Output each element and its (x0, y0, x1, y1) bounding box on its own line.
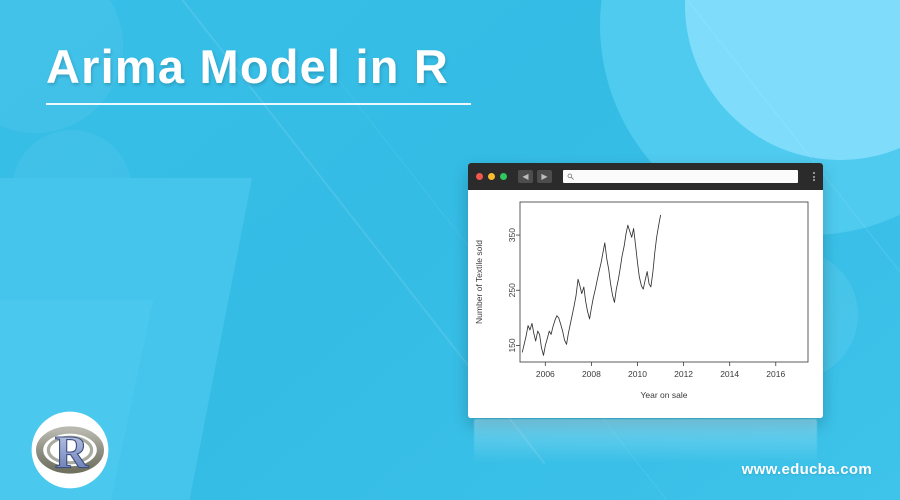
browser-window: ◀ ▶ 150250350200620082010201 (468, 163, 823, 418)
title-underline (46, 103, 471, 105)
browser-window-reflection (474, 419, 817, 463)
site-url: www.educba.com (742, 461, 872, 478)
svg-text:350: 350 (507, 228, 517, 242)
search-icon (567, 173, 574, 180)
address-bar[interactable] (563, 170, 798, 183)
svg-text:2012: 2012 (674, 369, 693, 379)
kebab-menu-icon[interactable] (809, 172, 818, 181)
r-timeseries-plot: 150250350200620082010201220142016Year on… (468, 190, 823, 418)
svg-text:Year on sale: Year on sale (641, 390, 688, 400)
close-dot[interactable] (476, 173, 483, 180)
page-title: Arima Model in R (46, 40, 606, 94)
svg-text:150: 150 (507, 338, 517, 352)
navigation-buttons: ◀ ▶ (518, 170, 552, 183)
maximize-dot[interactable] (500, 173, 507, 180)
title-block: Arima Model in R (46, 40, 606, 105)
svg-text:2008: 2008 (582, 369, 601, 379)
minimize-dot[interactable] (488, 173, 495, 180)
browser-titlebar: ◀ ▶ (468, 163, 823, 190)
r-language-logo: R (30, 410, 110, 490)
forward-button[interactable]: ▶ (537, 170, 552, 183)
r-logo-letter: R (55, 428, 89, 479)
back-button[interactable]: ◀ (518, 170, 533, 183)
browser-viewport: 150250350200620082010201220142016Year on… (468, 190, 823, 418)
svg-text:250: 250 (507, 283, 517, 297)
browser-frame: ◀ ▶ 150250350200620082010201 (468, 163, 823, 418)
svg-text:2014: 2014 (720, 369, 739, 379)
svg-text:2010: 2010 (628, 369, 647, 379)
window-controls (476, 173, 507, 180)
slide-canvas: Arima Model in R ◀ ▶ (0, 0, 900, 500)
svg-text:Number of Textile sold: Number of Textile sold (474, 240, 484, 324)
svg-text:2006: 2006 (536, 369, 555, 379)
svg-text:2016: 2016 (766, 369, 785, 379)
